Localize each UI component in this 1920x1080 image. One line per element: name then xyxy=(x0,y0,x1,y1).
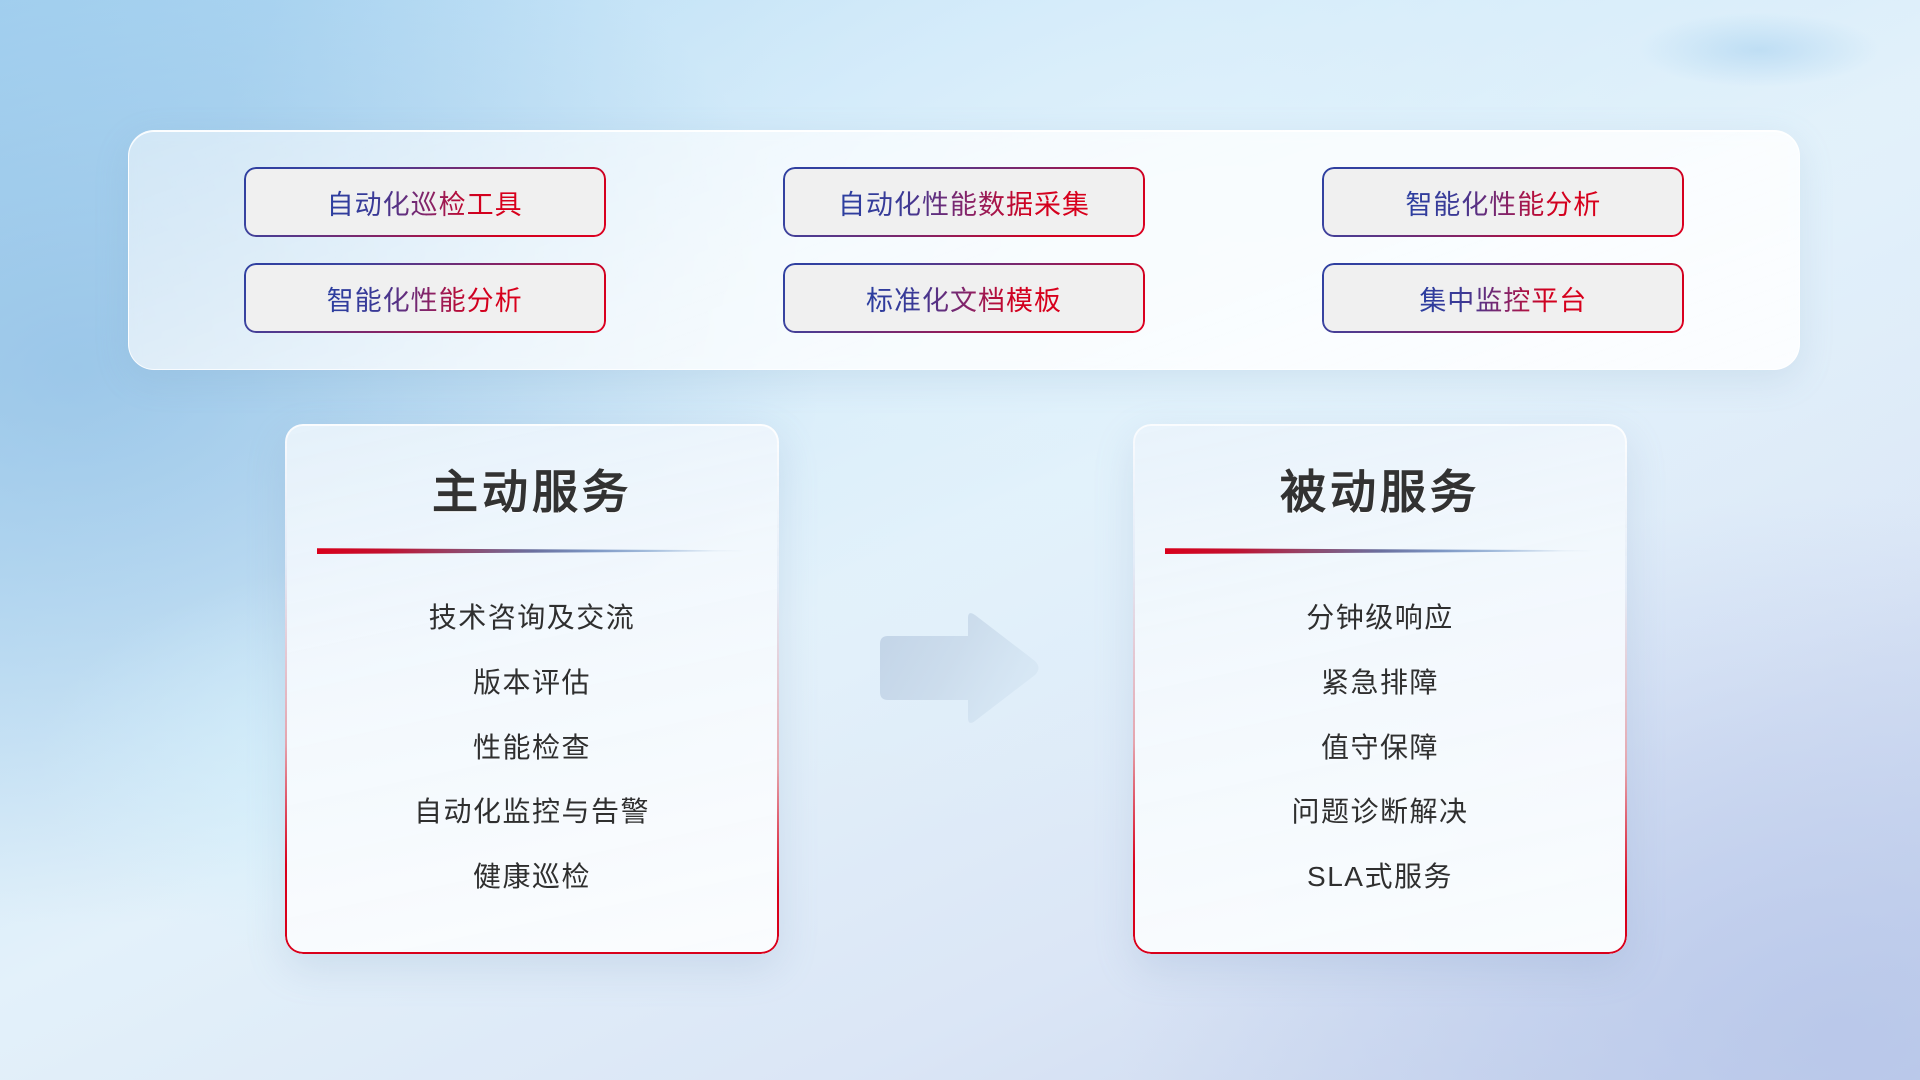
slide-canvas: 自动化巡检工具 自动化性能数据采集 智能化性能分析 智能化性能分析 标准化文档模… xyxy=(0,0,1920,1080)
capability-panel: 自动化巡检工具 自动化性能数据采集 智能化性能分析 智能化性能分析 标准化文档模… xyxy=(128,130,1800,370)
card-title-divider xyxy=(1165,544,1597,556)
service-item-list: 分钟级响应 紧急排障 值守保障 问题诊断解决 SLA式服务 xyxy=(1133,586,1627,910)
capability-tag-automation-inspection-tool[interactable]: 自动化巡检工具 xyxy=(246,169,604,235)
list-item: 性能检查 xyxy=(309,716,755,781)
service-item-list: 技术咨询及交流 版本评估 性能检查 自动化监控与告警 健康巡检 xyxy=(285,586,779,910)
card-title: 被动服务 xyxy=(1133,456,1627,522)
capability-tag-intelligent-performance-analysis[interactable]: 智能化性能分析 xyxy=(1324,169,1682,235)
list-item: 值守保障 xyxy=(1157,716,1603,781)
capability-tag-standardized-document-template[interactable]: 标准化文档模板 xyxy=(785,265,1143,331)
arrow-right-icon xyxy=(872,608,1042,728)
list-item: 分钟级响应 xyxy=(1157,586,1603,651)
list-item: 问题诊断解决 xyxy=(1157,780,1603,845)
capability-tag-label: 标准化文档模板 xyxy=(866,279,1062,318)
list-item: 自动化监控与告警 xyxy=(309,780,755,845)
service-card-proactive: 主动服务 技术咨询及交流 版本评估 性能检查 自动化监控与告警 健康巡检 xyxy=(285,424,779,954)
list-item: 版本评估 xyxy=(309,651,755,716)
capability-tag-intelligent-performance-analysis-2[interactable]: 智能化性能分析 xyxy=(246,265,604,331)
capability-tag-centralized-monitoring-platform[interactable]: 集中监控平台 xyxy=(1324,265,1682,331)
capability-tag-label: 集中监控平台 xyxy=(1419,279,1587,318)
service-card-reactive: 被动服务 分钟级响应 紧急排障 值守保障 问题诊断解决 SLA式服务 xyxy=(1133,424,1627,954)
card-title-divider xyxy=(317,544,749,556)
capability-tag-label: 自动化性能数据采集 xyxy=(838,183,1090,222)
list-item: 健康巡检 xyxy=(309,845,755,910)
list-item: SLA式服务 xyxy=(1157,845,1603,910)
capability-tag-label: 智能化性能分析 xyxy=(327,279,523,318)
capability-tag-automated-performance-data-collection[interactable]: 自动化性能数据采集 xyxy=(785,169,1143,235)
list-item: 紧急排障 xyxy=(1157,651,1603,716)
list-item: 技术咨询及交流 xyxy=(309,586,755,651)
card-title: 主动服务 xyxy=(285,456,779,522)
capability-tag-label: 智能化性能分析 xyxy=(1405,183,1601,222)
capability-tag-label: 自动化巡检工具 xyxy=(327,183,523,222)
